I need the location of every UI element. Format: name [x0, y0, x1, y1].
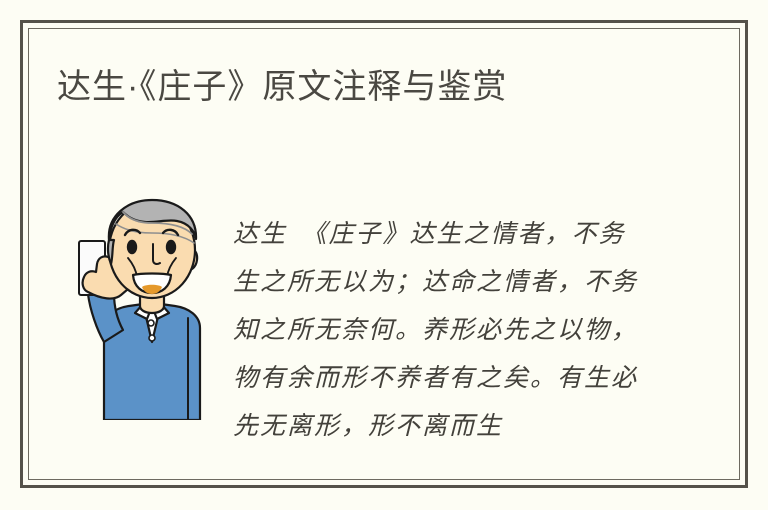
elderly-man-on-phone-illustration — [57, 192, 212, 420]
poster-page: 达生·《庄子》原文注释与鉴赏 — [0, 0, 768, 510]
page-title: 达生·《庄子》原文注释与鉴赏 — [57, 64, 507, 110]
article-body-text: 达生 《庄子》达生之情者，不务生之所无以为；达命之情者，不务知之所无奈何。养形必… — [233, 210, 651, 450]
